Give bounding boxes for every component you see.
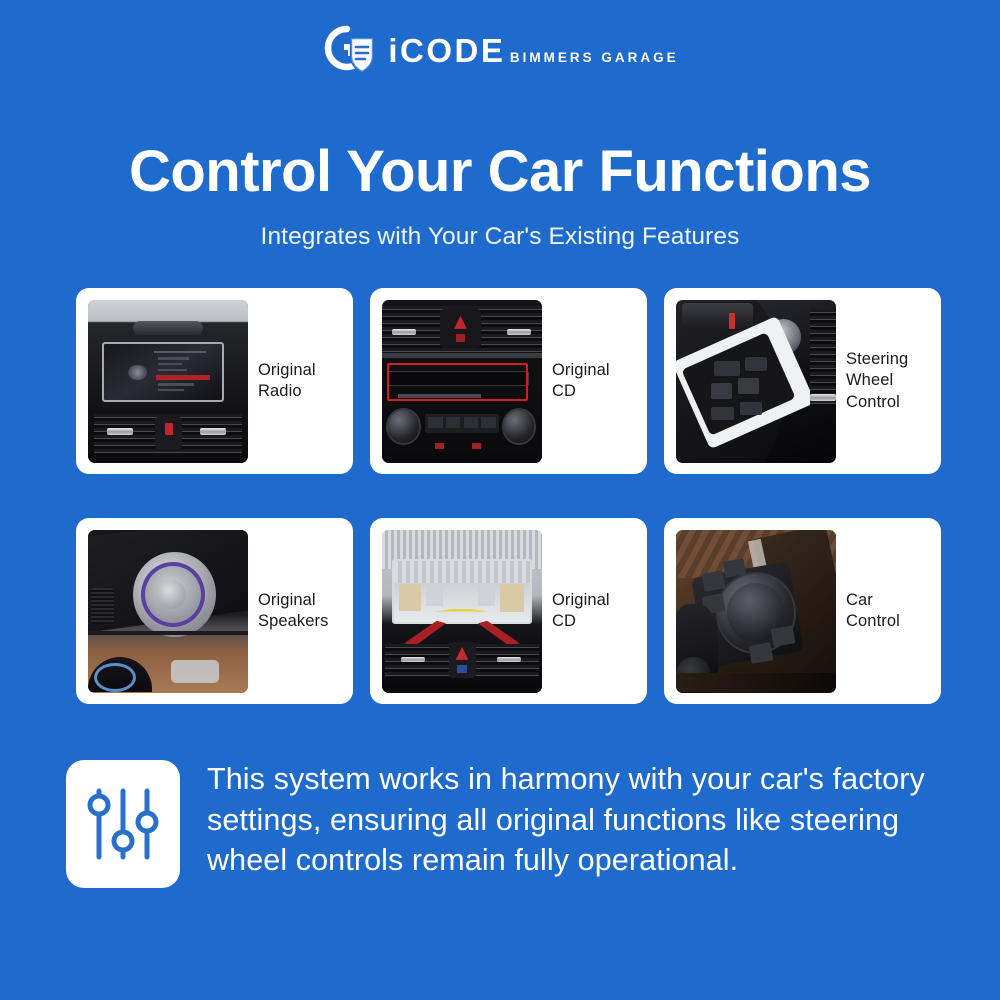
feature-card-label: Original CD (552, 590, 637, 632)
summary-note-text: This system works in harmony with your c… (207, 758, 946, 881)
feature-card-label: Original CD (552, 360, 637, 402)
feature-card[interactable]: Original Radio (76, 288, 353, 474)
feature-card[interactable]: Car Control (664, 518, 941, 704)
cd-slot-highlight (387, 363, 528, 400)
feature-card-label: Steering Wheel Control (846, 349, 931, 412)
brand-logo: iCODE BIMMERS GARAGE (321, 23, 678, 77)
feature-card-grid: Original Radio Original CD (76, 288, 924, 704)
feature-card[interactable]: Original CD (370, 518, 647, 704)
feature-card-label: Car Control (846, 590, 931, 632)
sliders-equalizer-icon (66, 760, 180, 888)
page-title: Control Your Car Functions (0, 142, 1000, 203)
car-cd-slot-photo (382, 300, 542, 463)
page-subtitle: Integrates with Your Car's Existing Feat… (0, 223, 1000, 251)
brand-header: iCODE BIMMERS GARAGE (0, 0, 1000, 100)
feature-card[interactable]: Original CD (370, 288, 647, 474)
summary-note: This system works in harmony with your c… (66, 758, 946, 888)
car-tweeter-speaker-photo (88, 530, 248, 693)
feature-card[interactable]: Original Speakers (76, 518, 353, 704)
brand-name: iCODE (388, 32, 505, 69)
icode-shield-g-icon (321, 23, 375, 77)
feature-card-label: Original Speakers (258, 590, 343, 632)
reverse-camera-screen-photo (382, 530, 542, 693)
feature-card-label: Original Radio (258, 360, 343, 402)
steering-wheel-buttons-photo (676, 300, 836, 463)
brand-tagline: BIMMERS GARAGE (510, 50, 679, 65)
car-head-unit-display-photo (88, 300, 248, 463)
feature-card[interactable]: Steering Wheel Control (664, 288, 941, 474)
idrive-controller-knob-photo (676, 530, 836, 693)
